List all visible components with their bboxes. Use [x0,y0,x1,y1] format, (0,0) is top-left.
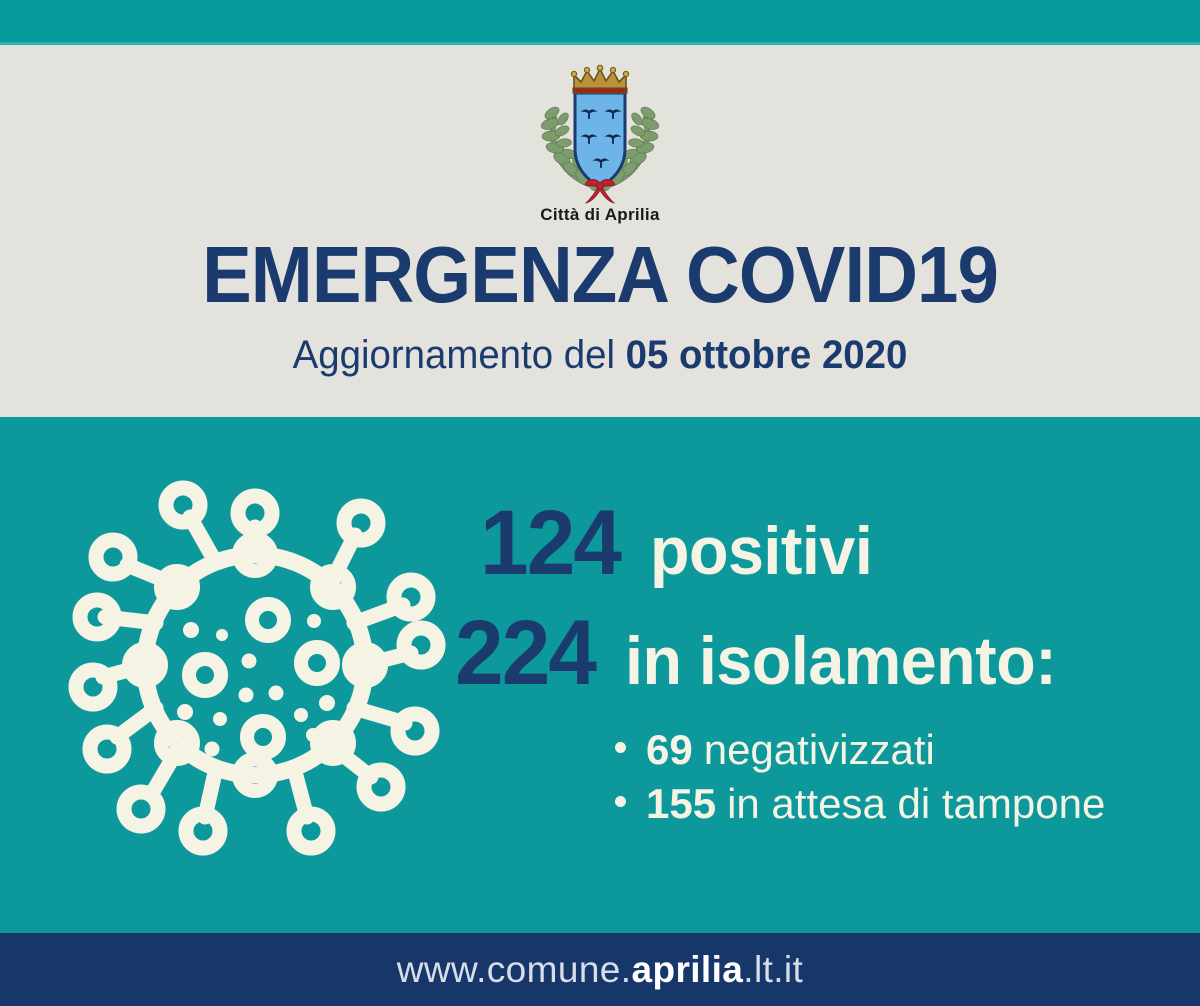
website-url[interactable]: www.comune.aprilia.lt.it [397,949,803,991]
covid-update-poster: Città di Aprilia EMERGENZA COVID19 Aggio… [0,0,1200,1006]
bullet-text-attesa-tampone: in attesa di tampone [727,777,1105,831]
url-domain: aprilia [631,949,743,990]
bullet-number-negativizzati: 69 [646,723,693,777]
top-accent-strip [0,0,1200,45]
update-date: 05 ottobre 2020 [626,333,908,377]
stat-label-isolamento: in isolamento: [625,627,1056,695]
coronavirus-icon [55,465,455,865]
statistics-block: 124 positivi 224 in isolamento: 69 negat… [455,497,1175,847]
stat-number-isolamento: 224 [455,607,595,699]
page-subtitle: Aggiornamento del 05 ottobre 2020 [24,335,1176,375]
bullet-dot-icon [615,742,626,753]
bullet-text-negativizzati: negativizzati [704,723,935,777]
stat-row-isolamento: 224 in isolamento: [455,607,1175,699]
isolation-breakdown-list: 69 negativizzati 155 in attesa di tampon… [615,723,1175,831]
city-coat-of-arms-icon: Città di Aprilia [525,57,675,207]
bullet-number-attesa-tampone: 155 [646,777,716,831]
stat-label-positivi: positivi [650,517,872,585]
list-item: 69 negativizzati [615,723,1175,777]
main-section: 124 positivi 224 in isolamento: 69 negat… [0,417,1200,933]
page-title: EMERGENZA COVID19 [42,235,1158,315]
footer-section: www.comune.aprilia.lt.it [0,933,1200,1006]
crest-caption: Città di Aprilia [525,205,675,225]
stat-row-positivi: 124 positivi [480,497,1175,589]
stat-number-positivi: 124 [480,497,620,589]
subtitle-prefix: Aggiornamento del [293,333,626,377]
list-item: 155 in attesa di tampone [615,777,1175,831]
bullet-dot-icon [615,796,626,807]
url-suffix: .lt.it [743,949,803,990]
url-prefix: www.comune. [397,949,632,990]
header-section: Città di Aprilia EMERGENZA COVID19 Aggio… [0,45,1200,417]
